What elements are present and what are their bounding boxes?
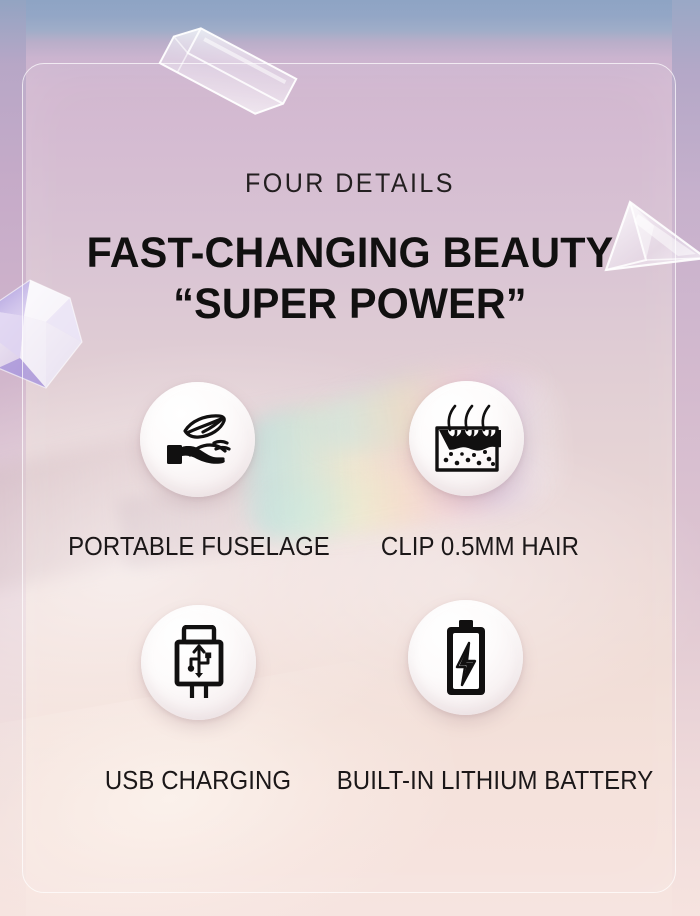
feature-icon-bubble-2: [409, 381, 524, 496]
feature-icon-bubble-4: [408, 600, 523, 715]
feature-label-4: BUILT-IN LITHIUM BATTERY: [302, 767, 687, 796]
hair-follicle-skin-icon: [433, 404, 501, 474]
feature-label-2: CLIP 0.5MM HAIR: [311, 533, 649, 562]
hand-holding-feather-icon: [161, 409, 235, 471]
poster-content: FOUR DETAILS FAST-CHANGING BEAUTY “SUPER…: [0, 0, 700, 916]
feature-icon-bubble-3: [141, 605, 256, 720]
usb-connector-icon: [171, 625, 227, 701]
poster-canvas: FOUR DETAILS FAST-CHANGING BEAUTY “SUPER…: [0, 0, 700, 916]
battery-bolt-icon: [442, 619, 490, 697]
feature-icon-bubble-1: [140, 382, 255, 497]
feature-grid: PORTABLE FUSELAGE: [0, 0, 700, 916]
